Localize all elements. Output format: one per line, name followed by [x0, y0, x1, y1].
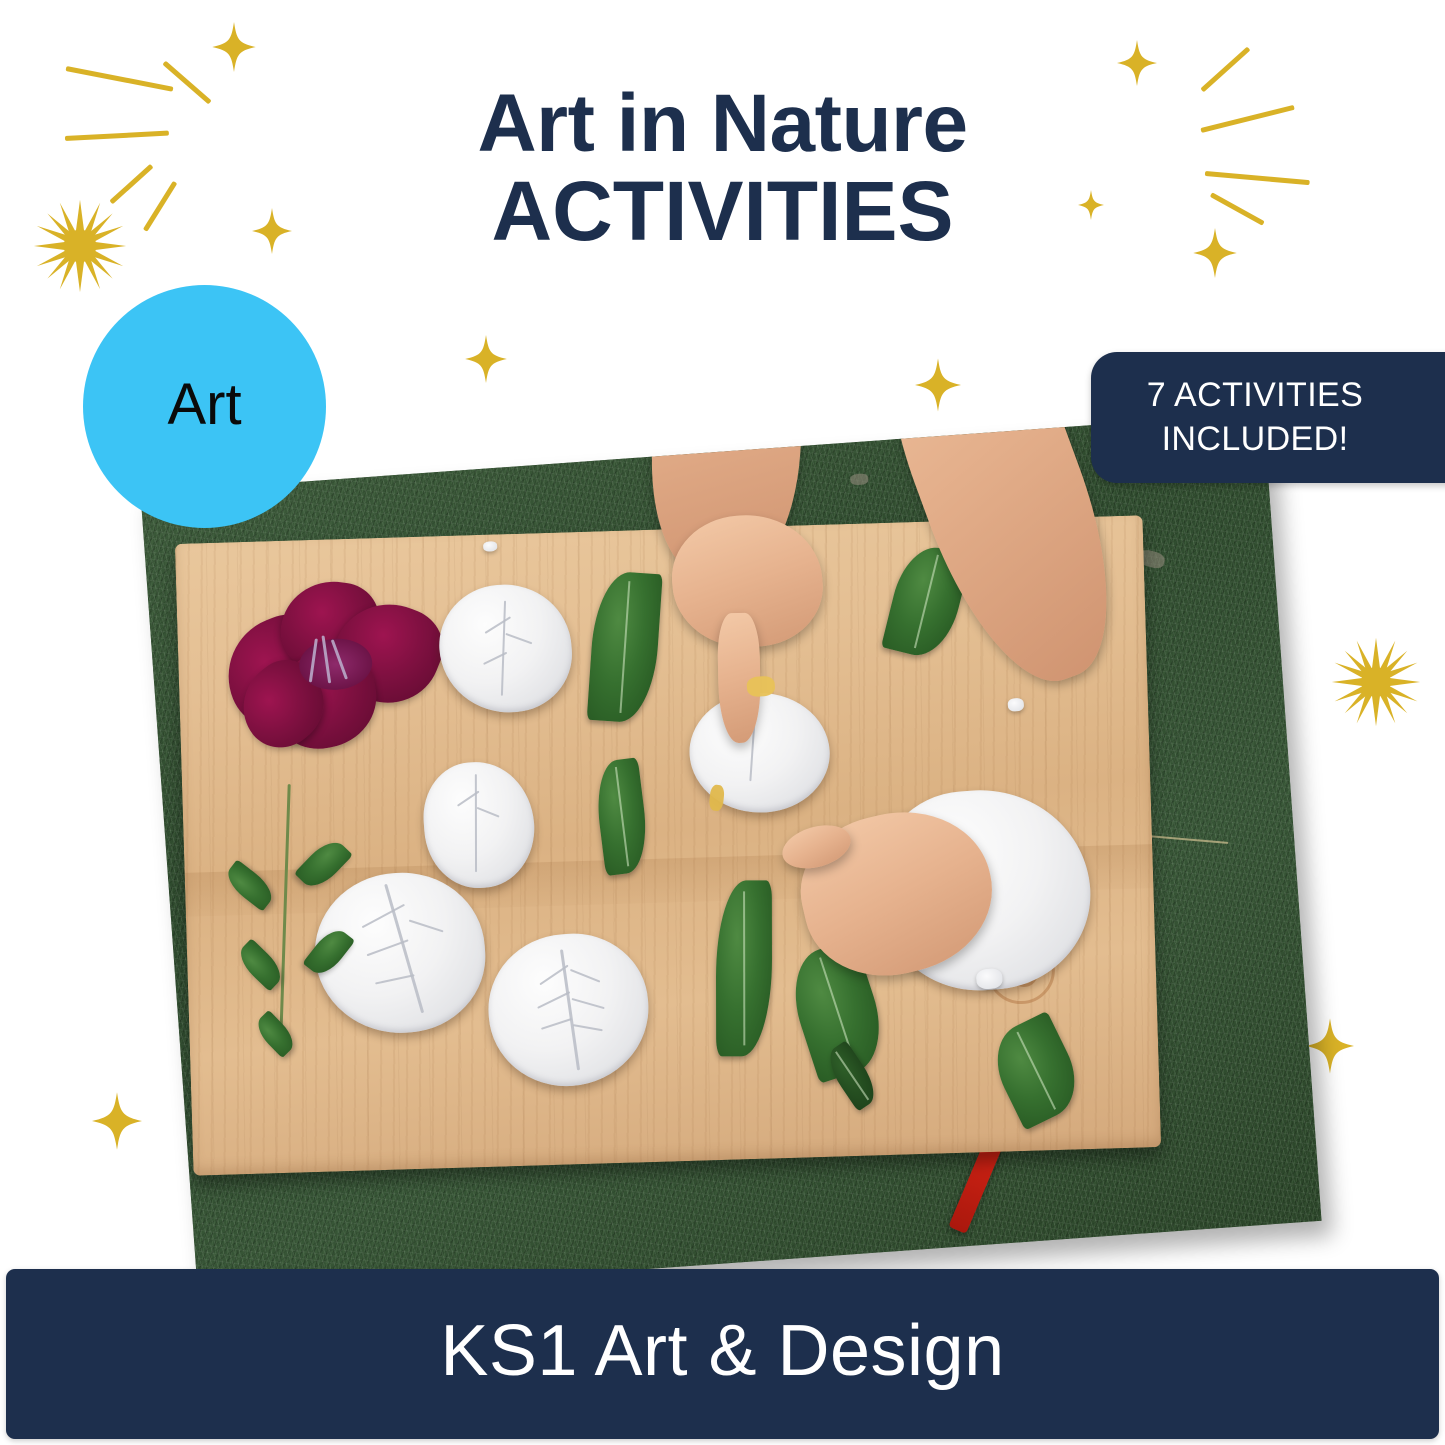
- activities-count-badge: 7 ACTIVITIES INCLUDED!: [1091, 352, 1445, 483]
- leaf-midrib: [744, 891, 746, 1046]
- activities-badge-text: 7 ACTIVITIES INCLUDED!: [1147, 374, 1415, 461]
- activity-photo: [140, 413, 1321, 1301]
- leaf-vein-imprint: [501, 600, 506, 695]
- footer-banner-label: KS1 Art & Design: [440, 1315, 1004, 1393]
- leaf-vein-imprint: [375, 975, 415, 985]
- subject-badge-label: Art: [167, 376, 241, 438]
- poster-canvas: Art in Nature ACTIVITIES: [0, 0, 1445, 1445]
- gladiolus-flower: [221, 574, 448, 759]
- leaf-vein-imprint: [505, 633, 532, 644]
- leaf-vein-imprint: [362, 904, 405, 928]
- leaf-midrib: [1017, 1032, 1056, 1110]
- starburst-icon: [1330, 636, 1422, 728]
- leaf-vein-imprint: [570, 969, 600, 983]
- yellow-clay-piece: [746, 675, 775, 697]
- leaf-midrib: [614, 767, 628, 867]
- sparkle-icon: [915, 358, 961, 412]
- leaf-vein-imprint: [485, 616, 511, 634]
- leaf-vein-imprint: [573, 1024, 603, 1031]
- leaf-vein-imprint: [571, 998, 604, 1009]
- subject-badge[interactable]: Art: [83, 285, 326, 528]
- activities-badge-line-2: INCLUDED!: [1147, 418, 1363, 462]
- clay-crumb: [483, 541, 498, 552]
- activities-badge-line-1: 7 ACTIVITIES: [1147, 374, 1363, 418]
- page-title: Art in Nature ACTIVITIES: [0, 82, 1445, 256]
- sparkle-icon: [212, 22, 256, 72]
- title-line-2: ACTIVITIES: [0, 166, 1445, 257]
- leaf-vein-imprint: [541, 1018, 572, 1030]
- leaf-vein-imprint: [474, 774, 476, 872]
- leaf-vein-imprint: [537, 991, 570, 1009]
- leaf-vein-imprint: [409, 920, 444, 933]
- footer-banner: KS1 Art & Design: [6, 1269, 1439, 1439]
- sparkle-icon: [1306, 1018, 1354, 1074]
- leaf-midrib: [620, 582, 631, 714]
- leaf-vein-imprint: [477, 807, 500, 817]
- sparkle-icon: [92, 1092, 142, 1150]
- leaf-midrib: [914, 555, 939, 649]
- photo-content: [140, 413, 1321, 1301]
- title-line-1: Art in Nature: [0, 82, 1445, 166]
- sparkle-icon: [465, 335, 507, 383]
- sparkle-icon: [1117, 40, 1157, 86]
